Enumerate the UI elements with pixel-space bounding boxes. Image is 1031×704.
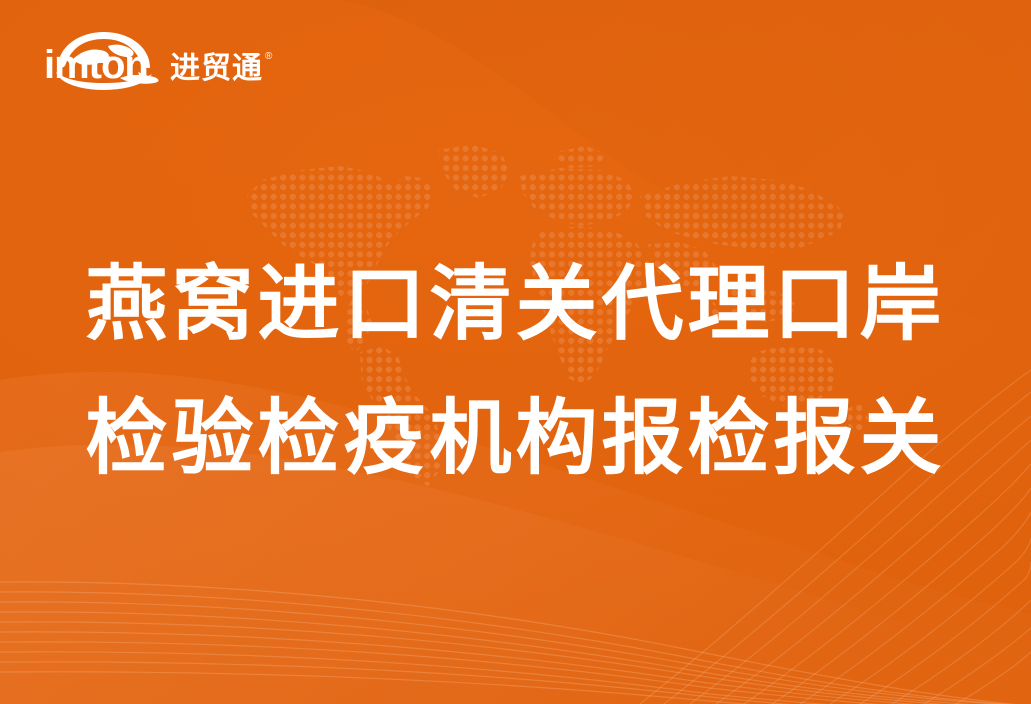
brand-logo[interactable]: imton 进贸通 ® xyxy=(42,28,272,90)
registered-trademark-icon: ® xyxy=(265,52,272,62)
headline-line-1: 燕窝进口清关代理口岸 xyxy=(0,238,1031,372)
brand-cn-text: 进贸通 xyxy=(170,54,263,84)
headline-line-2: 检验检疫机构报检报关 xyxy=(0,372,1031,506)
headline: 燕窝进口清关代理口岸 检验检疫机构报检报关 xyxy=(0,238,1031,506)
brand-cn-wordmark: 进贸通 ® xyxy=(170,54,272,84)
svg-text:imton: imton xyxy=(44,43,148,87)
promo-banner: imton 进贸通 ® 燕窝进口清关代理口岸 检验检疫机构报检报关 xyxy=(0,0,1031,704)
